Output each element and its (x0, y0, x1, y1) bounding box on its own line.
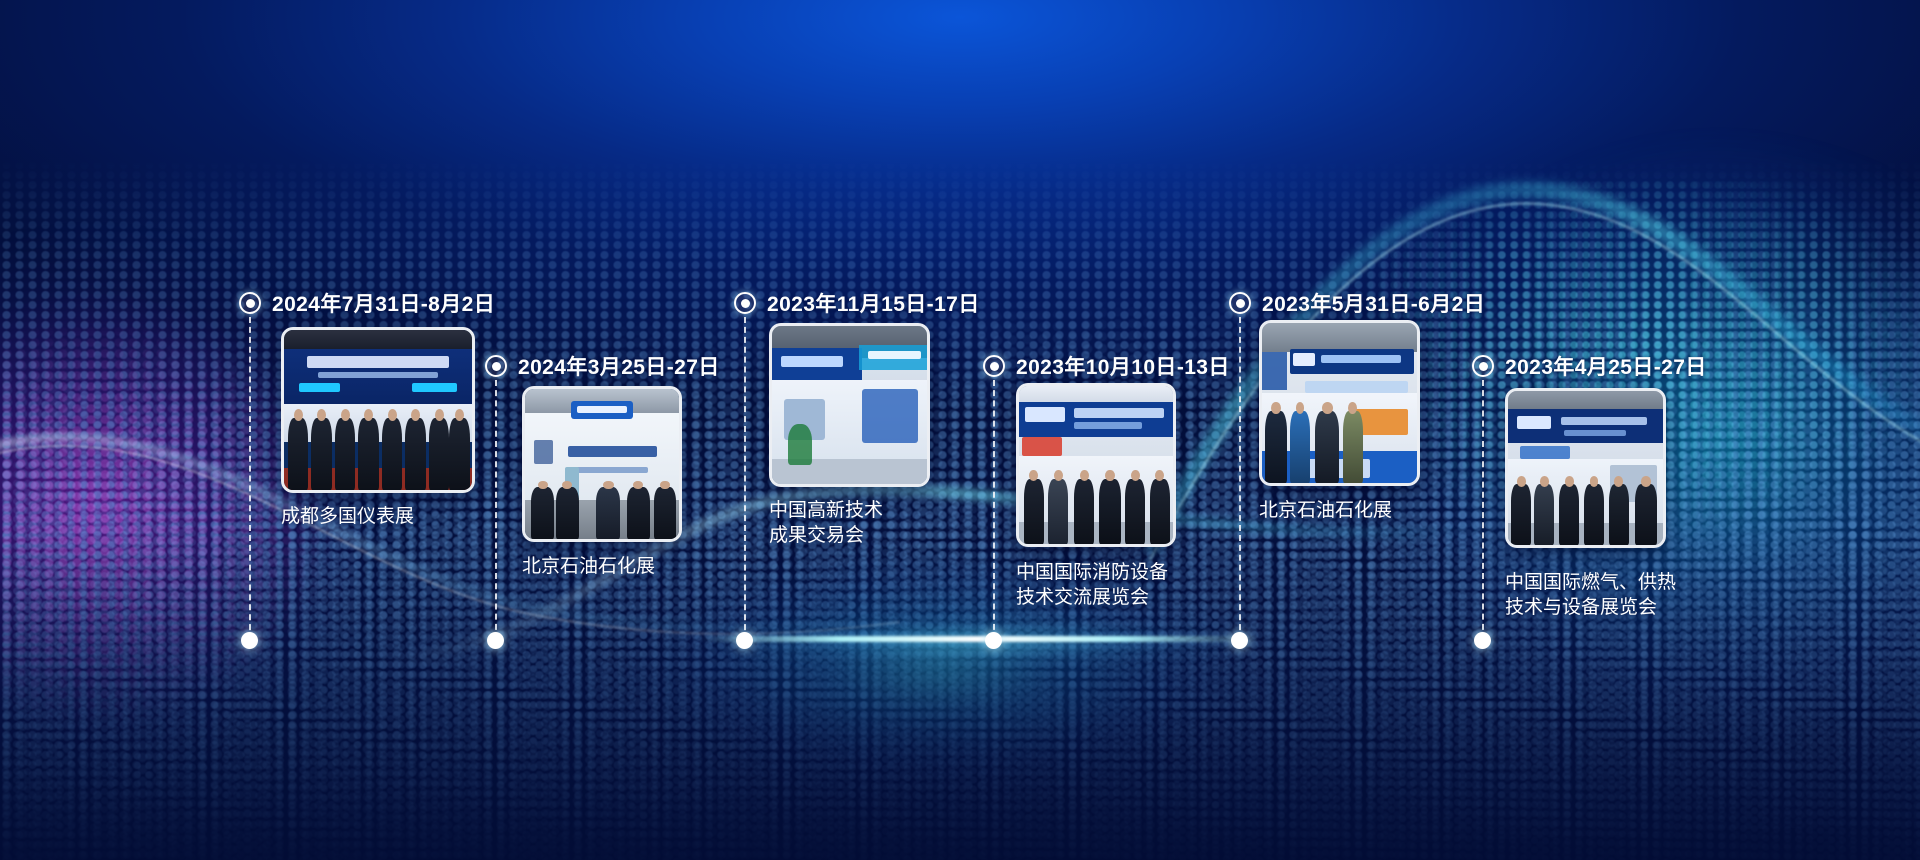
timeline-caption-6: 中国国际燃气、供热 技术与设备展览会 (1505, 570, 1725, 620)
timeline-track: 2024年7月31日-8月2日 (0, 0, 1920, 860)
timeline-stage: 2024年7月31日-8月2日 (0, 0, 1920, 860)
timeline-date-4: 2023年10月10日-13日 (1016, 351, 1230, 381)
photo-content-3 (772, 326, 927, 484)
photo-content-6 (1508, 391, 1663, 545)
timeline-photo-4[interactable] (1016, 383, 1176, 547)
timeline-stem-6 (1482, 380, 1484, 640)
timeline-caption-1: 成都多国仪表展 (281, 504, 481, 529)
timeline-dot-3[interactable] (736, 632, 753, 649)
photo-content-4 (1019, 386, 1173, 544)
timeline-caption-4: 中国国际消防设备 技术交流展览会 (1016, 560, 1236, 610)
timeline-photo-1[interactable] (281, 327, 475, 493)
photo-content-2 (525, 389, 679, 539)
timeline-dot-1[interactable] (241, 632, 258, 649)
timeline-stem-5 (1239, 317, 1241, 640)
timeline-photo-6[interactable] (1505, 388, 1666, 548)
timeline-dot-4[interactable] (985, 632, 1002, 649)
timeline-date-3: 2023年11月15日-17日 (767, 288, 980, 318)
timeline-stem-1 (249, 317, 251, 640)
photo-content-1 (284, 330, 472, 490)
timeline-caption-5: 北京石油石化展 (1259, 498, 1459, 523)
timeline-photo-2[interactable] (522, 386, 682, 542)
timeline-marker-icon-6 (1472, 355, 1494, 377)
timeline-dot-6[interactable] (1474, 632, 1491, 649)
timeline-date-6: 2023年4月25日-27日 (1505, 351, 1707, 381)
timeline-marker-icon-5 (1229, 292, 1251, 314)
timeline-date-2: 2024年3月25日-27日 (518, 351, 720, 381)
timeline-caption-2: 北京石油石化展 (522, 554, 722, 579)
timeline-dot-2[interactable] (487, 632, 504, 649)
timeline-stem-3 (744, 317, 746, 640)
timeline-marker-icon-1 (239, 292, 261, 314)
timeline-stem-4 (993, 380, 995, 640)
timeline-marker-icon-3 (734, 292, 756, 314)
timeline-photo-3[interactable] (769, 323, 930, 487)
timeline-date-5: 2023年5月31日-6月2日 (1262, 288, 1485, 318)
timeline-caption-3: 中国高新技术 成果交易会 (769, 498, 969, 548)
timeline-marker-icon-2 (485, 355, 507, 377)
timeline-date-1: 2024年7月31日-8月2日 (272, 288, 495, 318)
timeline-photo-5[interactable] (1259, 320, 1420, 486)
timeline-dot-5[interactable] (1231, 632, 1248, 649)
timeline-marker-icon-4 (983, 355, 1005, 377)
timeline-stem-2 (495, 380, 497, 640)
photo-content-5 (1262, 323, 1417, 483)
